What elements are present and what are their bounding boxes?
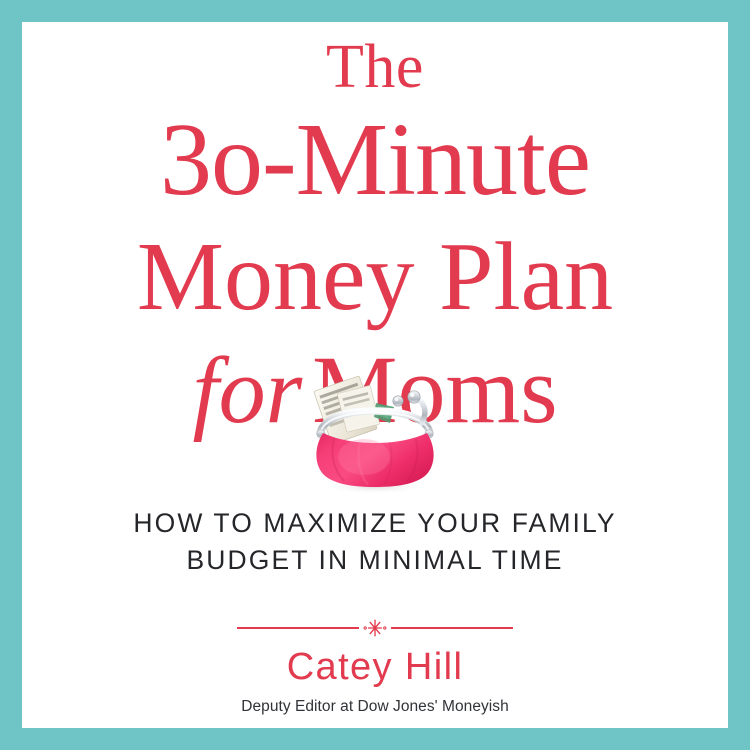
subtitle-line-2: BUDGET IN MINIMAL TIME	[22, 542, 728, 579]
divider-line-right	[391, 627, 513, 629]
coin-purse-icon	[290, 371, 460, 496]
author-name: Catey Hill	[22, 644, 728, 690]
sunburst-ornament-icon	[362, 617, 388, 639]
cover-inner-panel: The 3o-Minute Money Plan forMoms	[22, 22, 728, 728]
border-right	[728, 0, 750, 750]
divider-line-left	[237, 627, 359, 629]
ornamental-divider	[22, 617, 728, 639]
author-credit: Deputy Editor at Dow Jones' Moneyish	[22, 697, 728, 717]
title-line-moneyplan: Money Plan	[22, 228, 728, 326]
border-top	[0, 0, 750, 22]
border-left	[0, 0, 22, 750]
title-line-minutes: 3o-Minute	[22, 108, 728, 212]
book-subtitle: HOW TO MAXIMIZE YOUR FAMILY BUDGET IN MI…	[22, 505, 728, 579]
book-cover: The 3o-Minute Money Plan forMoms	[0, 0, 750, 750]
subtitle-line-1: HOW TO MAXIMIZE YOUR FAMILY	[22, 505, 728, 542]
title-line-the: The	[22, 36, 728, 98]
coin-purse-illustration	[290, 371, 460, 496]
border-bottom	[0, 728, 750, 750]
